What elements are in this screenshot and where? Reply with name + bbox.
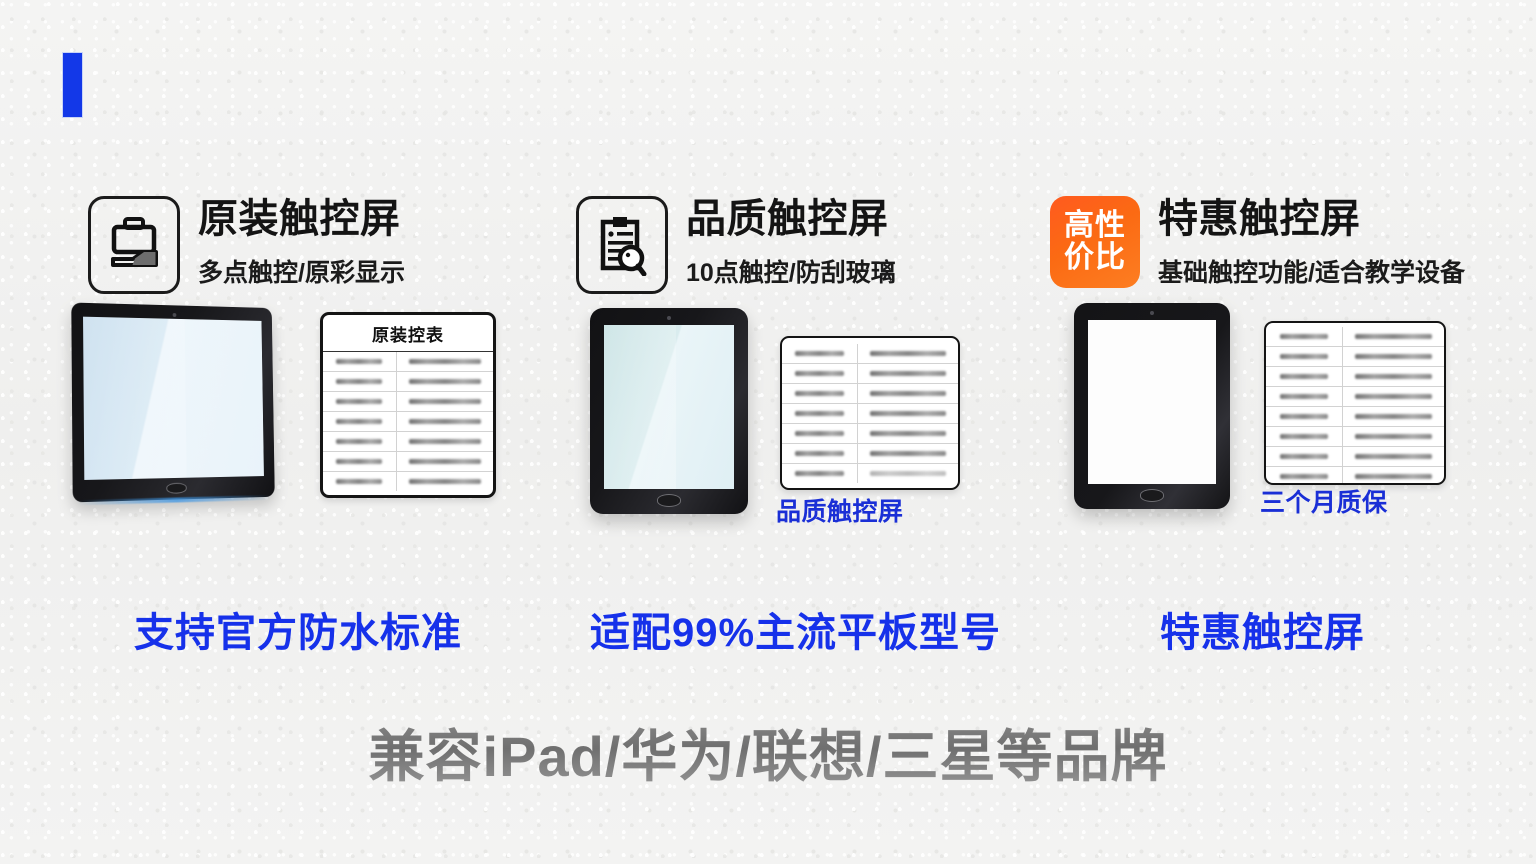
table-row <box>323 452 493 472</box>
column-header: 品质触控屏 10点触控/防刮玻璃 <box>512 196 1002 294</box>
table-row <box>323 372 493 392</box>
tablet-screen <box>1088 320 1216 484</box>
table-row <box>323 392 493 412</box>
header-text: 原装触控屏 多点触控/原彩显示 <box>180 196 405 289</box>
column-header: 原装触控屏 多点触控/原彩显示 <box>0 196 512 294</box>
table-row <box>782 364 958 384</box>
camera-icon <box>173 313 177 317</box>
camera-icon <box>667 316 671 320</box>
product-showcase: 品质触控屏 <box>512 316 1002 576</box>
product-column-original: 原装触控屏 多点触控/原彩显示 原装控表 支 <box>0 196 512 576</box>
badge-line-2: 价比 <box>1064 242 1126 274</box>
tablet-body <box>590 308 748 514</box>
column-headline: 特惠触控屏 <box>1160 600 1365 658</box>
table-row <box>782 384 958 404</box>
table-row <box>1266 387 1444 407</box>
table-row <box>1266 327 1444 347</box>
product-column-quality: 品质触控屏 10点触控/防刮玻璃 品质触控屏 <box>512 196 1002 576</box>
home-button-icon <box>166 483 186 494</box>
table-row <box>1266 427 1444 447</box>
tablet-illustration <box>1074 303 1230 509</box>
spec-caption: 三个月质保 <box>1260 483 1388 519</box>
product-column-value: 高性 价比 特惠触控屏 基础触控功能/适合教学设备 <box>1002 196 1536 571</box>
spec-table <box>782 344 958 483</box>
home-button-icon <box>1140 489 1164 502</box>
camera-icon <box>1150 311 1154 315</box>
column-header: 高性 价比 特惠触控屏 基础触控功能/适合教学设备 <box>1002 196 1536 289</box>
screen-glare <box>604 325 676 489</box>
tablet-body <box>1074 303 1230 509</box>
table-row <box>782 424 958 444</box>
briefcase-icon <box>88 196 180 294</box>
table-row <box>323 352 493 372</box>
badge-line-1: 高性 <box>1064 210 1126 242</box>
column-subtitle: 多点触控/原彩显示 <box>198 253 405 289</box>
column-title: 品质触控屏 <box>686 198 896 240</box>
spec-sheet: 原装控表 <box>320 312 496 498</box>
product-showcase: 原装控表 <box>0 316 512 576</box>
spec-sheet <box>1264 321 1446 485</box>
header-text: 品质触控屏 10点触控/防刮玻璃 <box>668 196 896 289</box>
column-subtitle: 基础触控功能/适合教学设备 <box>1158 253 1465 289</box>
table-row <box>1266 367 1444 387</box>
table-row <box>323 412 493 432</box>
table-row <box>323 472 493 492</box>
accent-bar <box>62 52 83 118</box>
column-headline: 适配99%主流平板型号 <box>590 600 1001 658</box>
table-row <box>782 344 958 364</box>
spec-table <box>1266 327 1444 485</box>
table-row <box>782 404 958 424</box>
column-headline: 支持官方防水标准 <box>134 600 462 658</box>
table-row <box>1266 407 1444 427</box>
table-row <box>1266 347 1444 367</box>
value-badge-icon: 高性 价比 <box>1050 196 1140 288</box>
home-button-icon <box>657 494 681 507</box>
spec-sheet-title: 原装控表 <box>323 315 493 352</box>
column-subtitle: 10点触控/防刮玻璃 <box>686 253 896 289</box>
spec-table <box>323 352 493 491</box>
table-row <box>1266 447 1444 467</box>
product-showcase: 三个月质保 <box>1002 311 1536 571</box>
footer-brand-compatibility: 兼容iPad/华为/联想/三星等品牌 <box>0 712 1536 793</box>
tablet-body <box>71 303 275 503</box>
table-row <box>782 444 958 464</box>
header-text: 特惠触控屏 基础触控功能/适合教学设备 <box>1140 196 1465 289</box>
tablet-illustration <box>590 308 748 514</box>
spec-sheet <box>780 336 960 490</box>
tablet-illustration <box>71 303 275 503</box>
clipboard-search-icon <box>576 196 668 294</box>
column-title: 原装触控屏 <box>198 198 405 240</box>
column-title: 特惠触控屏 <box>1158 198 1465 240</box>
screen-glare <box>83 317 187 480</box>
table-row <box>782 464 958 484</box>
table-row <box>323 432 493 452</box>
spec-caption: 品质触控屏 <box>776 492 904 528</box>
